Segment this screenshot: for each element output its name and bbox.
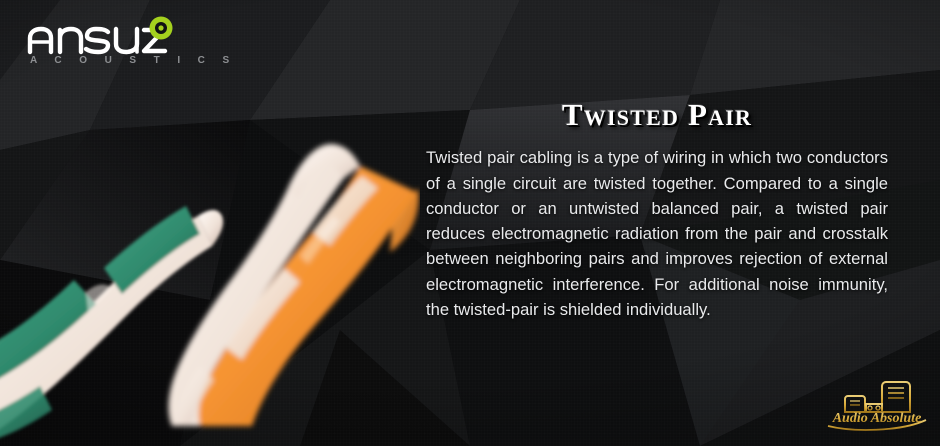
ansuz-logo: A C O U S T I C S bbox=[26, 16, 196, 78]
watermark-text: Audio Absolute bbox=[832, 411, 922, 426]
ansuz-tagline: A C O U S T I C S bbox=[30, 56, 237, 66]
page-title: Twisted Pair bbox=[426, 98, 888, 131]
audio-absolute-watermark: Audio Absolute bbox=[822, 374, 932, 436]
ansuz-ring-mark bbox=[150, 17, 173, 40]
body-paragraph: Twisted pair cabling is a type of wiring… bbox=[426, 145, 888, 322]
ansuz-wordmark bbox=[26, 16, 176, 60]
slide-root: A C O U S T I C S Twisted Pair Twisted p… bbox=[0, 0, 940, 446]
ansuz-letters bbox=[30, 29, 165, 52]
content-column: Twisted Pair Twisted pair cabling is a t… bbox=[426, 98, 888, 322]
